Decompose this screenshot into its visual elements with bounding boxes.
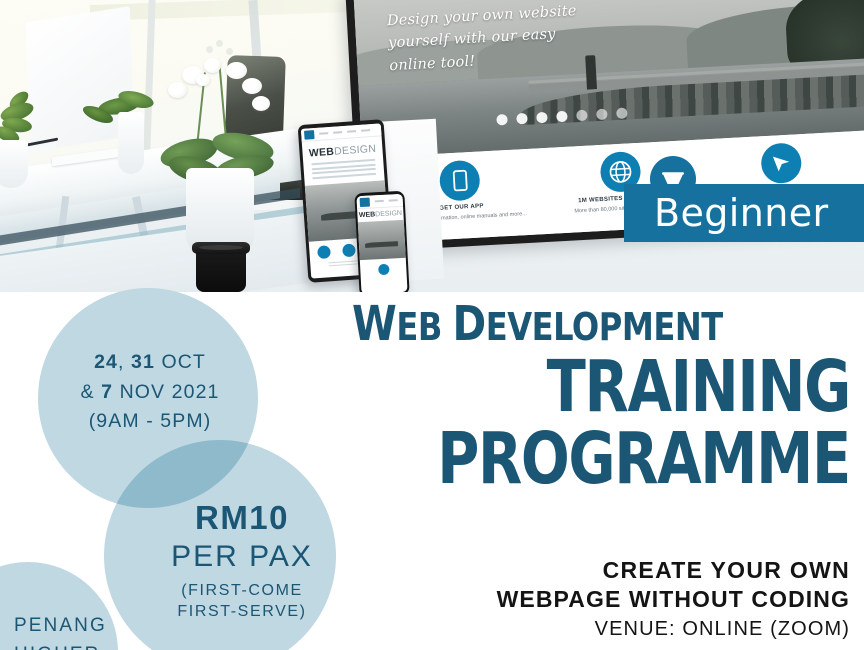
coffee-cup-lid: [192, 242, 250, 254]
beginner-badge-label: Beginner: [624, 191, 829, 235]
title-line-3: PROGRAMME: [402, 424, 850, 494]
phone-title-bold: WEB: [359, 211, 376, 219]
venue-line: VENUE: ONLINE (ZOOM): [352, 616, 850, 642]
subtitle-line-2: WEBPAGE WITHOUT CODING: [352, 585, 850, 614]
nav-link[interactable]: [333, 131, 342, 134]
phone-mockup: WEBDESIGN: [354, 191, 409, 292]
orchid-bud: [206, 46, 213, 53]
carousel-dot[interactable]: [516, 113, 528, 125]
title-line-1: WEB DEVELOPMENT: [352, 300, 820, 348]
orchid-bud: [226, 48, 233, 55]
nav-link[interactable]: [361, 129, 370, 132]
carousel-dot[interactable]: [596, 109, 608, 121]
price-amount: RM10: [136, 500, 348, 537]
title-d-cap: D: [453, 296, 486, 352]
orchid-flower: [204, 58, 221, 73]
site-logo: [304, 130, 315, 140]
site-logo: [360, 197, 370, 207]
phone-hero-image: [358, 220, 406, 260]
organizer-name: PENANG HIGHER: [14, 612, 184, 650]
title-eb-small: EB: [396, 305, 452, 349]
page-title: WEB DEVELOPMENT TRAINING PROGRAMME: [352, 300, 850, 493]
nav-link[interactable]: [319, 132, 328, 135]
phone-screen: WEBDESIGN: [356, 194, 407, 292]
carousel-dot[interactable]: [496, 114, 508, 126]
date-month-oct: OCT: [155, 351, 206, 373]
date-separator: ,: [118, 351, 131, 373]
carousel-dot[interactable]: [556, 111, 568, 123]
organizer-line-1: PENANG: [14, 612, 184, 641]
phone-site-title: WEBDESIGN: [357, 207, 404, 220]
plant-pot: [0, 140, 28, 188]
title-evelopment-small: EVELOPMENT: [486, 305, 723, 349]
subtitle-line-1: CREATE YOUR OWN: [352, 556, 850, 585]
cursor-arrow-icon: [760, 142, 802, 184]
orchid-flower: [168, 82, 187, 98]
beginner-badge-bar: Beginner: [624, 184, 864, 242]
date-ampersand: &: [81, 381, 102, 403]
carousel-dot[interactable]: [536, 112, 548, 124]
date-day-7: 7: [101, 381, 113, 403]
orchid-flower: [252, 96, 270, 111]
date-line-2: & 7 NOV 2021: [44, 378, 256, 408]
mobile-phone-icon: [378, 264, 390, 276]
phone-title-light: DESIGN: [375, 210, 402, 218]
office-hero-photo: Design your own website yourself with ou…: [0, 0, 864, 292]
organizer-line-2: HIGHER: [14, 641, 184, 650]
date-month-nov-year: NOV 2021: [113, 381, 219, 403]
tablet-title-light: DESIGN: [334, 143, 377, 158]
date-line-1: 24, 31 OCT: [44, 348, 256, 378]
orchid-bud: [216, 40, 223, 47]
price-unit: PER PAX: [136, 539, 348, 575]
page-subtitle: CREATE YOUR OWN WEBPAGE WITHOUT CODING V…: [352, 556, 850, 642]
date-day-31: 31: [131, 351, 155, 373]
date-day-24: 24: [94, 351, 118, 373]
poster-canvas: Design your own website yourself with ou…: [0, 0, 864, 650]
plant-pot: [118, 112, 144, 174]
price-info: RM10 PER PAX (FIRST-COME FIRST-SERVE): [136, 500, 348, 623]
website-hero-headline: Design your own website yourself with ou…: [386, 0, 599, 78]
course-dates: 24, 31 OCT & 7 NOV 2021 (9AM - 5PM): [44, 348, 256, 437]
nav-link[interactable]: [375, 200, 384, 202]
title-w-cap: W: [352, 296, 396, 352]
date-time-range: (9AM - 5PM): [44, 407, 256, 437]
nav-link[interactable]: [347, 130, 356, 133]
mobile-phone-icon: [317, 245, 331, 259]
carousel-dot[interactable]: [616, 107, 628, 119]
title-line-2: TRAINING: [402, 352, 850, 422]
globe-icon: [342, 243, 356, 257]
tablet-title-bold: WEB: [308, 146, 334, 160]
orchid-flower: [242, 78, 262, 94]
price-note-line-1: (FIRST-COME: [136, 580, 348, 601]
orchid-flower: [196, 74, 210, 86]
carousel-dot[interactable]: [576, 110, 588, 122]
orchid-flower: [226, 62, 247, 79]
tablet-text-lines: [303, 156, 384, 184]
nav-link[interactable]: [389, 199, 398, 201]
mobile-phone-icon: [439, 160, 481, 202]
